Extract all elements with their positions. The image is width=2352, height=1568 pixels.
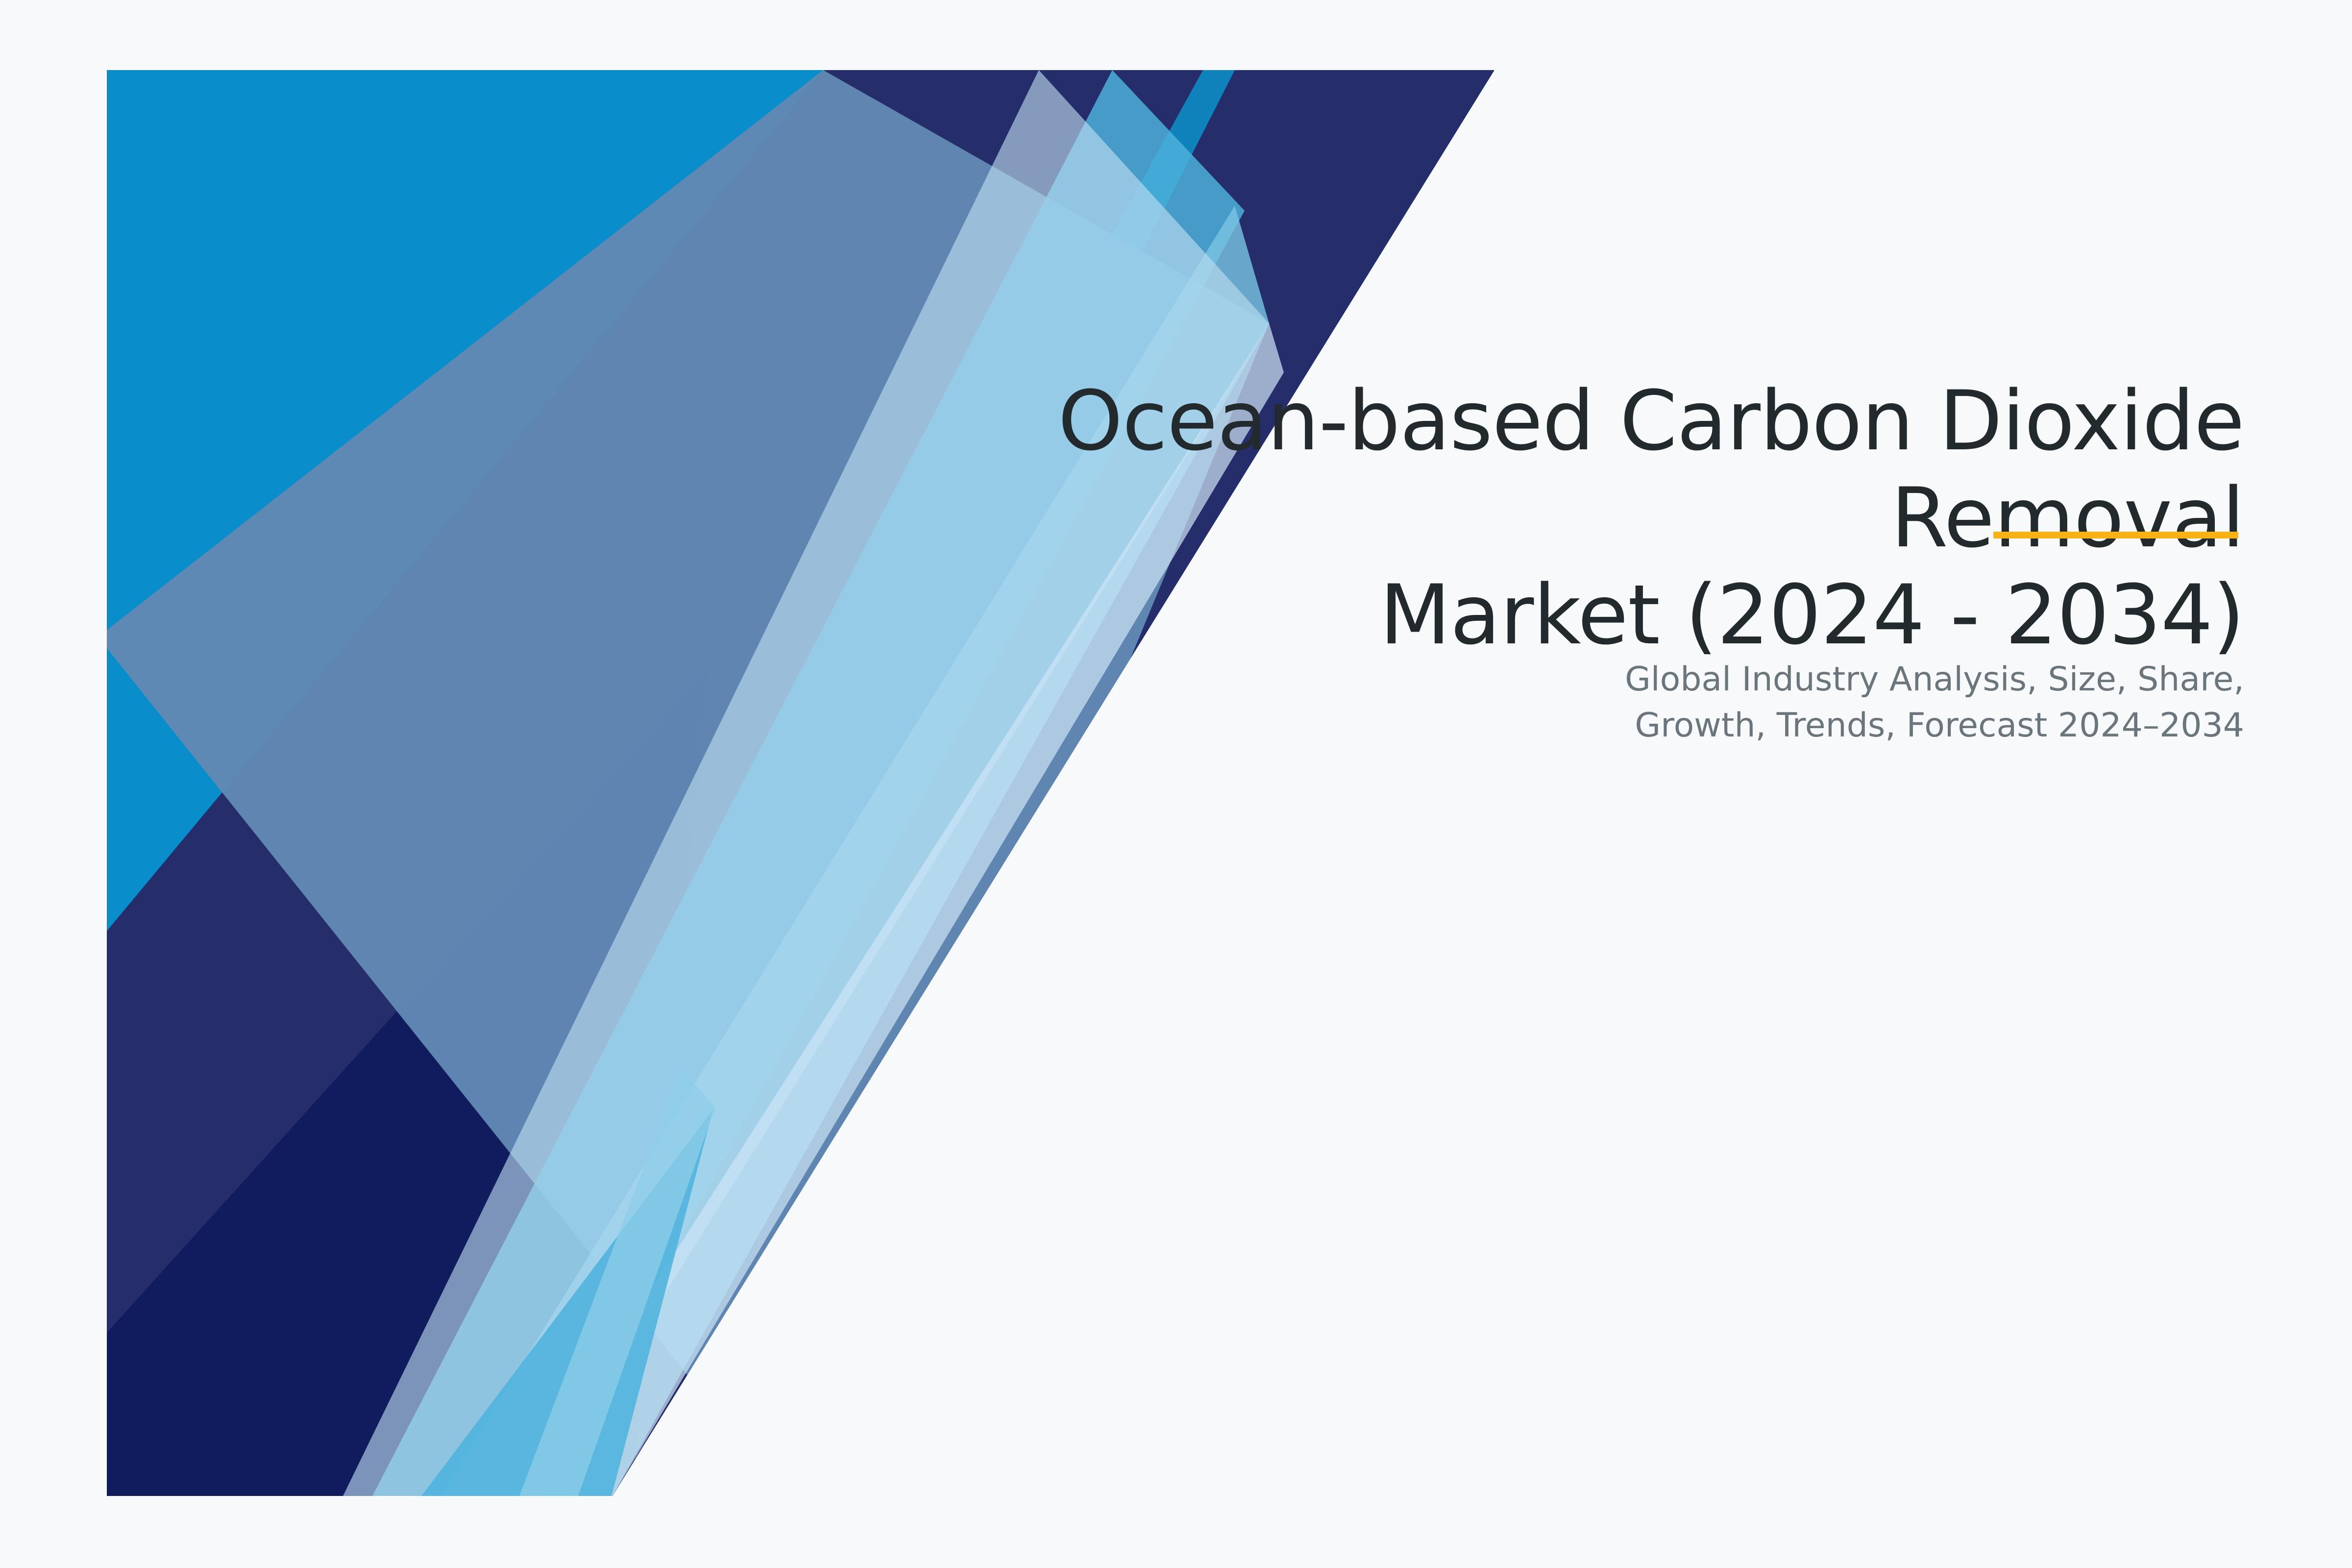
cover-artwork xyxy=(0,0,2352,1568)
page-title: Ocean-based Carbon Dioxide Removal Marke… xyxy=(725,372,2244,664)
title-accent-underline xyxy=(1993,532,2238,539)
cover-text-block: Ocean-based Carbon Dioxide Removal Marke… xyxy=(725,372,2244,664)
report-cover-page: Ocean-based Carbon Dioxide Removal Marke… xyxy=(0,0,2352,1568)
page-subtitle: Global Industry Analysis, Size, Share, G… xyxy=(1534,657,2244,749)
